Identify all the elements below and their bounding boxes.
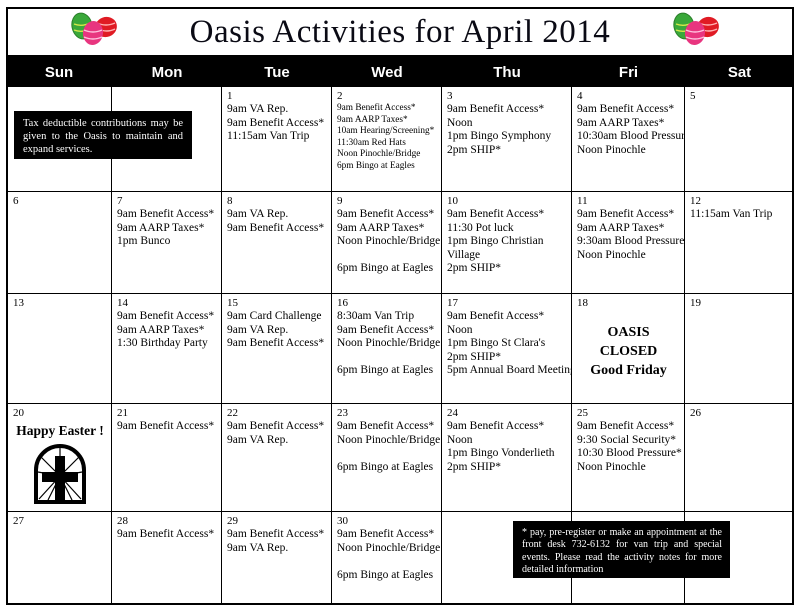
event-item: 9am AARP Taxes* [577,117,680,131]
day-number: 13 [13,297,107,309]
day-number: 4 [577,90,680,102]
calendar-day-13[interactable]: 13 [8,294,112,403]
day-number: 3 [447,90,567,102]
weekday-header-row: SunMonTueWedThuFriSat [6,57,794,87]
calendar-day-29[interactable]: 299am Benefit Access*9am VA Rep. [222,512,332,603]
day-events-list: 9am Benefit Access*9am VA Rep. [227,420,327,447]
day-events-list: 9am Benefit Access*9am AARP Taxes*9:30am… [577,208,680,262]
day-number: 21 [117,407,217,419]
event-item: 9:30am Blood Pressure [577,235,680,249]
event-item: 9am Benefit Access* [337,103,437,115]
calendar-day-25[interactable]: 259am Benefit Access*9:30 Social Securit… [572,404,685,511]
event-spacer [337,447,437,461]
event-item: 9am Benefit Access* [117,528,217,542]
day-events-list: 9am Benefit Access* [117,420,217,434]
page-title: Oasis Activities for April 2014 [190,16,611,49]
calendar-day-6[interactable]: 6 [8,192,112,293]
weekday-header-sat: Sat [685,57,794,87]
calendar-day-3[interactable]: 39am Benefit Access*Noon1pm Bingo Sympho… [442,87,572,191]
event-item: 6pm Bingo at Eagles [337,569,437,583]
calendar-day-5[interactable]: 5 [685,87,792,191]
day-number: 20 [13,407,107,419]
cross-graphic-wrap [13,442,107,504]
event-item: 9am Benefit Access* [447,103,567,117]
day-events-list: 9am Benefit Access*9am VA Rep. [227,528,327,555]
day-number: 9 [337,195,437,207]
event-item: 9am Benefit Access* [117,310,217,324]
day-number: 25 [577,407,680,419]
event-item: 9am Benefit Access* [577,103,680,117]
day-events-list: 9am Benefit Access*11:30 Pot luck1pm Bin… [447,208,567,276]
day-events-list: 9am Benefit Access*9am AARP Taxes*Noon P… [337,208,437,276]
event-spacer [337,555,437,569]
closed-notice: OASIS CLOSEDGood Friday [577,323,680,380]
calendar-day-10[interactable]: 109am Benefit Access*11:30 Pot luck1pm B… [442,192,572,293]
event-item: 8:30am Van Trip [337,310,437,324]
day-number: 27 [13,515,107,527]
day-number: 30 [337,515,437,527]
day-events-list: 9am Card Challenge9am VA Rep.9am Benefit… [227,310,327,351]
event-item: 2pm SHIP* [447,144,567,158]
event-item: 9am Benefit Access* [117,208,217,222]
event-item: 6pm Bingo at Eagles [337,262,437,276]
event-item: 9am Benefit Access* [337,324,437,338]
day-number: 18 [577,297,680,309]
calendar-day-8[interactable]: 89am VA Rep.9am Benefit Access* [222,192,332,293]
event-item: 10am Hearing/Screening* [337,126,437,138]
closed-line-2: Good Friday [577,361,680,380]
day-number: 1 [227,90,327,102]
calendar-week-row: 20Happy Easter !219am Benefit Access*229… [8,404,792,512]
event-item: 9am AARP Taxes* [117,324,217,338]
event-item: 1:30 Birthday Party [117,337,217,351]
event-item: 6pm Bingo at Eagles [337,461,437,475]
event-item: 9am Benefit Access* [337,208,437,222]
event-item: Noon [447,434,567,448]
event-item: Village [447,249,567,263]
event-item: 9am Benefit Access* [227,528,327,542]
day-number: 19 [690,297,788,309]
event-item: Noon Pinochle/Bridge [337,235,437,249]
event-item: 9am AARP Taxes* [337,115,437,127]
event-spacer [337,351,437,365]
calendar-day-7[interactable]: 79am Benefit Access*9am AARP Taxes*1pm B… [112,192,222,293]
event-item: 11:30 Pot luck [447,222,567,236]
calendar-day-15[interactable]: 159am Card Challenge9am VA Rep.9am Benef… [222,294,332,403]
calendar-day-17[interactable]: 179am Benefit Access*Noon1pm Bingo St Cl… [442,294,572,403]
event-item: 1pm Bingo Vonderlieth [447,447,567,461]
day-number: 26 [690,407,788,419]
weekday-header-tue: Tue [222,57,332,87]
day-events-list: 9am Benefit Access*Noon1pm Bingo St Clar… [447,310,567,378]
easter-greeting: Happy Easter ! [13,423,107,439]
event-item: 9am Benefit Access* [337,528,437,542]
easter-eggs-icon-left [66,12,122,46]
event-item: 9am VA Rep. [227,208,327,222]
day-events-list: 9am Benefit Access* [117,528,217,542]
event-item: 1pm Bingo Christian [447,235,567,249]
day-events-list: 11:15am Van Trip [690,208,788,222]
event-item: 9am Benefit Access* [337,420,437,434]
event-item: 9am Benefit Access* [447,208,567,222]
calendar-week-row: 679am Benefit Access*9am AARP Taxes*1pm … [8,192,792,294]
day-events-list: 9am Benefit Access*9am AARP Taxes*10:30a… [577,103,680,157]
event-item: 9am AARP Taxes* [337,222,437,236]
event-item: Noon Pinochle/Bridge [337,542,437,556]
day-number: 16 [337,297,437,309]
event-item: 9am VA Rep. [227,434,327,448]
event-item: Noon Pinochle [577,461,680,475]
event-item: 9am Benefit Access* [227,117,327,131]
event-item: Noon [447,324,567,338]
event-item: 9am VA Rep. [227,324,327,338]
day-number: 6 [13,195,107,207]
calendar-week-row: 13149am Benefit Access*9am AARP Taxes*1:… [8,294,792,404]
event-item: 11:15am Van Trip [227,130,327,144]
weekday-header-sun: Sun [6,57,112,87]
day-events-list: 9am VA Rep.9am Benefit Access* [227,208,327,235]
footer-asterisk-note: * pay, pre-register or make an appointme… [513,521,730,578]
day-events-list: 9am Benefit Access*9:30 Social Security*… [577,420,680,474]
event-item: Noon Pinochle/Bridge [337,337,437,351]
calendar-day-24[interactable]: 249am Benefit Access*Noon1pm Bingo Vonde… [442,404,572,511]
calendar-day-4[interactable]: 49am Benefit Access*9am AARP Taxes*10:30… [572,87,685,191]
calendar-day-2[interactable]: 29am Benefit Access*9am AARP Taxes*10am … [332,87,442,191]
calendar-day-27[interactable]: 27 [8,512,112,603]
day-number: 7 [117,195,217,207]
event-item: 11:30am Red Hats [337,138,437,150]
event-item: 9am AARP Taxes* [577,222,680,236]
closed-line-1: OASIS CLOSED [577,323,680,361]
calendar-day-16[interactable]: 168:30am Van Trip9am Benefit Access*Noon… [332,294,442,403]
event-item: 9am Benefit Access* [447,310,567,324]
calendar-day-1[interactable]: 19am VA Rep.9am Benefit Access*11:15am V… [222,87,332,191]
tax-deductible-note: Tax deductible contributions may be give… [14,111,192,159]
day-number: 28 [117,515,217,527]
day-number: 14 [117,297,217,309]
event-item: 9am Benefit Access* [227,337,327,351]
calendar-day-26[interactable]: 26 [685,404,792,511]
calendar-day-21[interactable]: 219am Benefit Access* [112,404,222,511]
event-item: 9am Benefit Access* [117,420,217,434]
calendar-day-14[interactable]: 149am Benefit Access*9am AARP Taxes*1:30… [112,294,222,403]
event-item: 9:30 Social Security* [577,434,680,448]
event-item: 9am Benefit Access* [447,420,567,434]
calendar-day-23[interactable]: 239am Benefit Access*Noon Pinochle/Bridg… [332,404,442,511]
event-item: Noon Pinochle/Bridge [337,434,437,448]
day-number: 2 [337,90,437,102]
event-item: 9am VA Rep. [227,542,327,556]
day-events-list: 9am Benefit Access*9am AARP Taxes*10am H… [337,103,437,173]
day-number: 23 [337,407,437,419]
day-events-list: 9am Benefit Access*Noon Pinochle/Bridge6… [337,528,437,582]
day-events-list: 9am Benefit Access*Noon1pm Bingo Vonderl… [447,420,567,474]
event-spacer [337,249,437,263]
event-item: 10:30am Blood Pressure [577,130,680,144]
day-number: 24 [447,407,567,419]
event-item: Noon Pinochle [577,249,680,263]
calendar-day-18[interactable]: 18OASIS CLOSEDGood Friday [572,294,685,403]
day-number: 11 [577,195,680,207]
day-events-list: 9am Benefit Access*9am AARP Taxes*1pm Bu… [117,208,217,249]
day-events-list: 9am Benefit Access*Noon Pinochle/Bridge6… [337,420,437,474]
calendar-day-19[interactable]: 19 [685,294,792,403]
calendar-day-28[interactable]: 289am Benefit Access* [112,512,222,603]
day-number: 29 [227,515,327,527]
calendar-day-20[interactable]: 20Happy Easter ! [8,404,112,511]
event-item: 10:30 Blood Pressure* [577,447,680,461]
weekday-header-fri: Fri [572,57,685,87]
cross-icon [30,442,90,504]
calendar-page: Oasis Activities for April 2014 SunMonTu… [0,0,800,612]
day-number: 17 [447,297,567,309]
easter-eggs-icon-right [668,12,724,46]
day-number: 22 [227,407,327,419]
event-item: 11:15am Van Trip [690,208,788,222]
day-events-list: 8:30am Van Trip9am Benefit Access*Noon P… [337,310,437,378]
event-item: 9am Benefit Access* [227,222,327,236]
calendar-day-9[interactable]: 99am Benefit Access*9am AARP Taxes*Noon … [332,192,442,293]
weekday-header-wed: Wed [332,57,442,87]
event-item: 5pm Annual Board Meeting [447,364,567,378]
event-item: 9am VA Rep. [227,103,327,117]
event-item: 2pm SHIP* [447,461,567,475]
event-item: 6pm Bingo at Eagles [337,161,437,173]
event-item: 2pm SHIP* [447,262,567,276]
event-item: Noon [447,117,567,131]
event-item: 9am Benefit Access* [227,420,327,434]
weekday-header-thu: Thu [442,57,572,87]
event-item: 9am Benefit Access* [577,208,680,222]
day-events-list: 9am VA Rep.9am Benefit Access*11:15am Va… [227,103,327,144]
event-item: 9am Card Challenge [227,310,327,324]
event-item: 1pm Bingo Symphony [447,130,567,144]
day-number: 5 [690,90,788,102]
day-number: 8 [227,195,327,207]
weekday-header-mon: Mon [112,57,222,87]
event-item: 1pm Bingo St Clara's [447,337,567,351]
calendar-day-30[interactable]: 309am Benefit Access*Noon Pinochle/Bridg… [332,512,442,603]
day-events-list: 9am Benefit Access*Noon1pm Bingo Symphon… [447,103,567,157]
day-events-list: 9am Benefit Access*9am AARP Taxes*1:30 B… [117,310,217,351]
event-item: Noon Pinochle/Bridge [337,149,437,161]
day-number: 12 [690,195,788,207]
event-item: Noon Pinochle [577,144,680,158]
calendar-day-11[interactable]: 119am Benefit Access*9am AARP Taxes*9:30… [572,192,685,293]
event-item: 2pm SHIP* [447,351,567,365]
event-item: 1pm Bunco [117,235,217,249]
day-number: 15 [227,297,327,309]
event-item: 9am Benefit Access* [577,420,680,434]
event-item: 9am AARP Taxes* [117,222,217,236]
calendar-day-12[interactable]: 1211:15am Van Trip [685,192,792,293]
calendar-day-22[interactable]: 229am Benefit Access*9am VA Rep. [222,404,332,511]
day-number: 10 [447,195,567,207]
event-item: 6pm Bingo at Eagles [337,364,437,378]
